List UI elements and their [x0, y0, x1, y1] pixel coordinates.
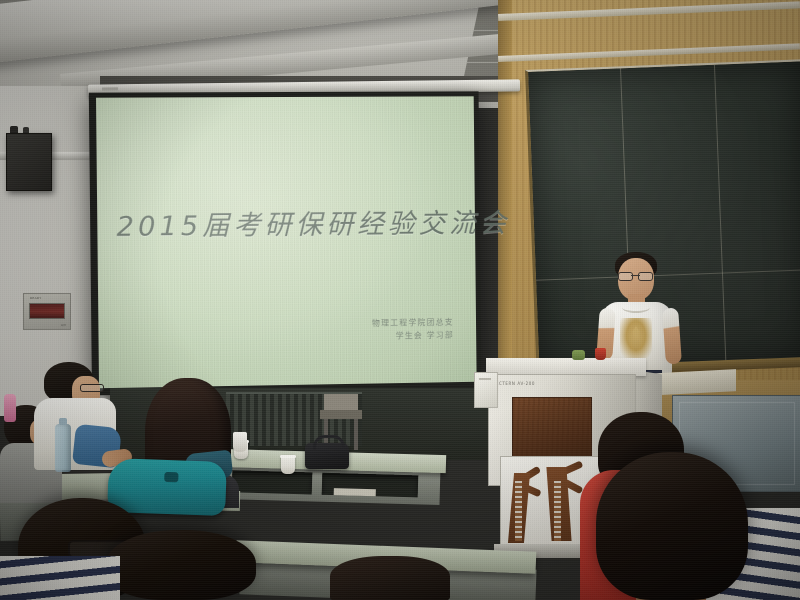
presenter-arm-right [662, 308, 682, 365]
slide-organization: 物理工程学院团总支 学生会 学习部 [372, 315, 454, 343]
control-panel-label: READY [30, 296, 42, 300]
slide-org-line-1: 物理工程学院团总支 [372, 315, 454, 330]
presenter-collar [622, 302, 650, 313]
foreground-student-head [596, 452, 748, 600]
control-panel-display [29, 303, 65, 319]
chair-back [324, 394, 358, 410]
podium-wood-panel [512, 397, 592, 459]
water-bottle [55, 424, 71, 472]
projection-screen: 2015届考研保研经验交流会 物理工程学院团总支 学生会 学习部 [89, 91, 482, 395]
foreground-student-hair [106, 530, 256, 600]
slide-org-line-2: 学生会 学习部 [372, 329, 454, 344]
glasses-icon [618, 272, 653, 279]
pink-bottle [4, 394, 16, 422]
av-equipment-box [474, 372, 498, 408]
green-object [572, 350, 585, 360]
av-control-panel[interactable]: READY A/V [23, 293, 71, 330]
chair-leg [354, 419, 358, 450]
ladder-icon [515, 481, 522, 541]
black-handbag [305, 443, 349, 469]
teal-backpack [107, 458, 227, 516]
photo-scene: READY A/V 2015届考研保研经验交流会 物理工程学院团总支 学生会 学… [0, 0, 800, 600]
chair-seat [320, 410, 362, 419]
roller-cap [102, 87, 118, 90]
slide-title: 2015届考研保研经验交流会 [116, 211, 464, 241]
desk-paper-stack [334, 488, 376, 496]
control-panel-sublabel: A/V [61, 323, 66, 327]
foreground-student-hair [330, 556, 450, 600]
red-cup [595, 348, 606, 360]
paper-cup [281, 455, 295, 474]
ladder-icon [554, 481, 561, 541]
wall-speaker [6, 133, 52, 191]
projection-screen-surface: 2015届考研保研经验交流会 物理工程学院团总支 学生会 学习部 [96, 96, 477, 388]
podium-brand-label: LECTERN AV-200 [493, 381, 535, 387]
glasses-icon [80, 384, 104, 392]
paper-cup [233, 432, 247, 452]
tshirt-graphic-print [620, 318, 652, 360]
foreground-striped-shirt-left [0, 556, 120, 600]
desk-cubby [232, 470, 313, 494]
